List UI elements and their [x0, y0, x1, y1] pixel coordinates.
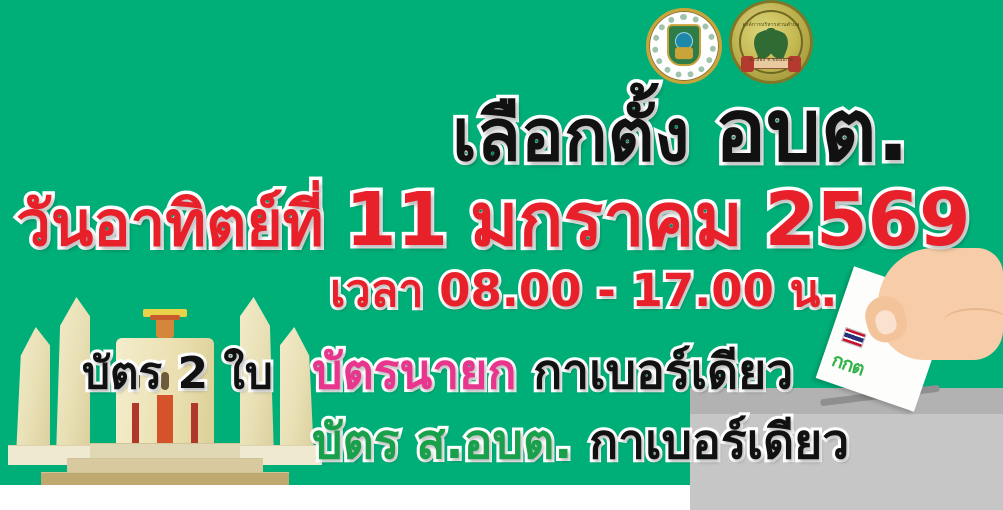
- time-line: เวลา 08.00 - 17.00 น.: [330, 268, 837, 313]
- hand-finger-crease: [944, 308, 1003, 334]
- ballot-mark-label: กกต: [828, 345, 868, 384]
- monument-wing-1: [16, 327, 50, 457]
- monument-pillar-left: [132, 403, 139, 443]
- hand-inserting-ballot-illustration: กกต: [820, 248, 1003, 408]
- monument-step-1: [90, 443, 240, 459]
- monument-door: [157, 395, 173, 443]
- monument-turret: [156, 316, 174, 338]
- date-year: 2569: [765, 177, 971, 263]
- emblem-inner-ring: องค์การบริหารส่วนตำบล อ.เมือง จ.ขอนแก่น: [739, 10, 803, 74]
- date-month: มกราคม: [470, 177, 743, 263]
- election-poster: องค์การบริหารส่วนตำบล อ.เมือง จ.ขอนแก่น: [0, 0, 1003, 510]
- ballot-council-instruction: กาเบอร์เดียว: [589, 414, 849, 470]
- bottom-white-strip: [0, 485, 690, 510]
- thai-flag-icon: [841, 327, 867, 348]
- date-day-label: วันอาทิตย์ที่: [16, 187, 324, 260]
- monument-pillar-right: [191, 403, 198, 443]
- headline-prefix: เลือกตั้ง: [452, 93, 689, 177]
- ect-thailand-emblem-icon: [646, 8, 722, 84]
- ballot-count-label: บัตร 2 ใบ: [82, 352, 273, 396]
- ballot-row-mayor: บัตรนายก กาเบอร์เดียว: [312, 348, 793, 396]
- date-line: วันอาทิตย์ที่ 11 มกราคม 2569: [16, 183, 970, 257]
- thumbnail-icon: [873, 308, 899, 337]
- monument-step-2: [67, 458, 263, 473]
- monument-step-3: [41, 472, 289, 485]
- date-day-number: 11: [345, 177, 448, 263]
- headline-main: อบต.: [715, 81, 910, 181]
- emblem-shield-icon: [667, 24, 701, 66]
- ballot-row-council: บัตร ส.อบต. กาเบอร์เดียว: [312, 418, 849, 466]
- emblem-ring-text-bottom: อ.เมือง จ.ขอนแก่น: [741, 56, 801, 64]
- ballot-mayor-instruction: กาเบอร์เดียว: [533, 344, 793, 400]
- headline: เลือกตั้ง อบต.: [452, 88, 909, 174]
- local-administration-emblem-icon: องค์การบริหารส่วนตำบล อ.เมือง จ.ขอนแก่น: [729, 0, 813, 84]
- ballot-mayor-type: บัตรนายก: [312, 344, 516, 400]
- torch-icon: [766, 28, 776, 54]
- ballot-council-type: บัตร ส.อบต.: [312, 414, 572, 470]
- monument-wing-4: [280, 327, 314, 457]
